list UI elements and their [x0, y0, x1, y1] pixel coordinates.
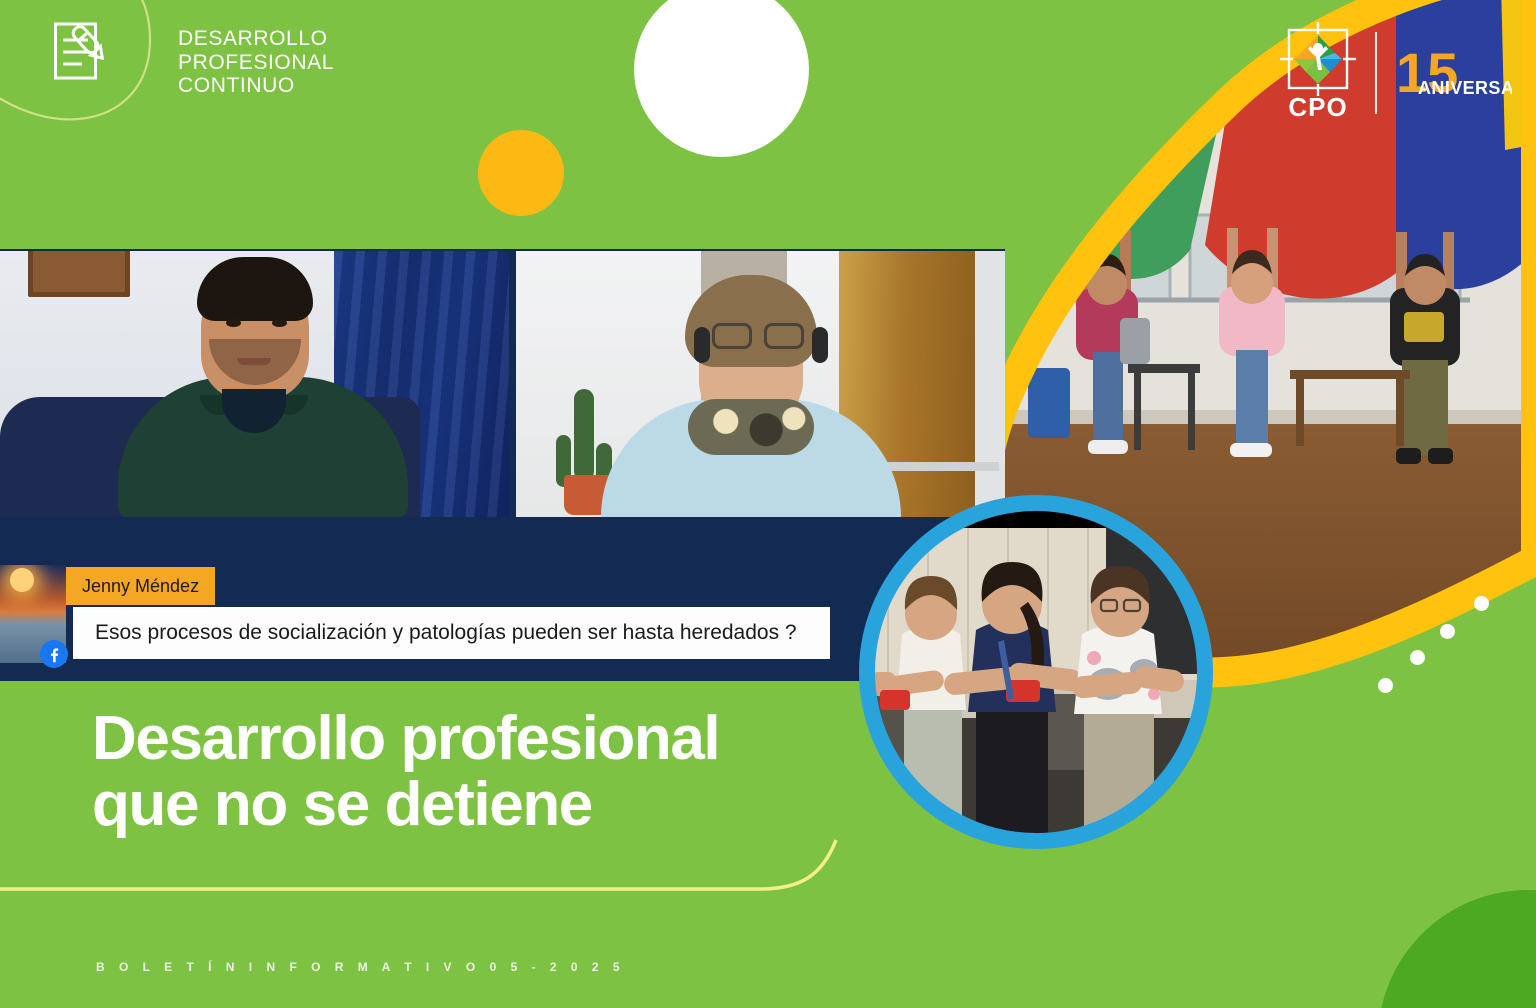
anniversary-label: ANIVERSARIO [1418, 78, 1512, 98]
newsletter-poster: DESARROLLO PROFESIONAL CONTINUO CPO 15 A… [0, 0, 1536, 1008]
cpo-diamond-logo [1280, 22, 1356, 96]
decorative-yellow-underline [0, 840, 836, 889]
bulletin-footer: B O L E T Í N I N F O R M A T I V O 0 5 … [96, 960, 625, 974]
facebook-icon [40, 640, 68, 668]
comment-text-box: Esos procesos de socialización y patolog… [73, 607, 830, 659]
participant-tile-right [516, 251, 1005, 517]
cpo-logo-text: CPO [1288, 92, 1347, 122]
comment-text: Esos procesos de socialización y patolog… [95, 621, 797, 645]
dance-activity-photo [858, 494, 1214, 850]
participant-tile-left [0, 251, 509, 517]
comment-author-name: Jenny Méndez [82, 576, 199, 597]
header-title: DESARROLLO PROFESIONAL CONTINUO [178, 27, 334, 98]
wall-picture-frame [28, 251, 130, 297]
document-pen-icon [52, 18, 114, 88]
comment-author-tag: Jenny Méndez [66, 567, 215, 605]
cpo-logo-group: CPO 15 ANIVERSARIO [1272, 22, 1512, 127]
page-title: Desarrollo profesional que no se detiene [92, 706, 872, 837]
